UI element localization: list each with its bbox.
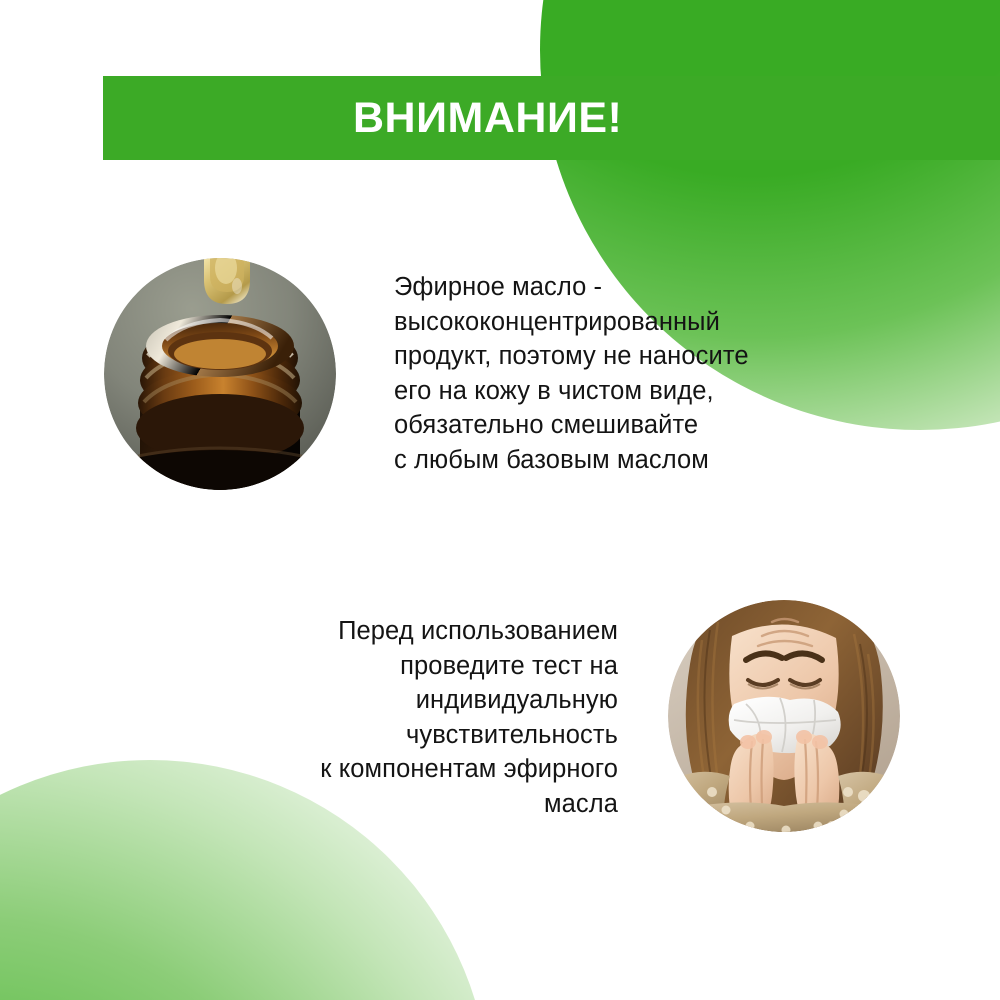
warning-text-dilute-oil: Эфирное масло - высококонцентрированный …: [394, 270, 864, 477]
header-banner: ВНИМАНИЕ!: [103, 76, 1000, 160]
sneezing-woman-photo: [668, 600, 900, 832]
content-block-1: Эфирное масло - высококонцентрированный …: [0, 258, 1000, 508]
page-title: ВНИМАНИЕ!: [353, 97, 622, 140]
essential-oil-bottle-photo: [104, 258, 336, 490]
poster-canvas: ВНИМАНИЕ!: [0, 0, 1000, 1000]
content-block-2: Перед использованием проведите тест на и…: [0, 598, 1000, 848]
warning-text-sensitivity-test: Перед использованием проведите тест на и…: [160, 614, 618, 821]
